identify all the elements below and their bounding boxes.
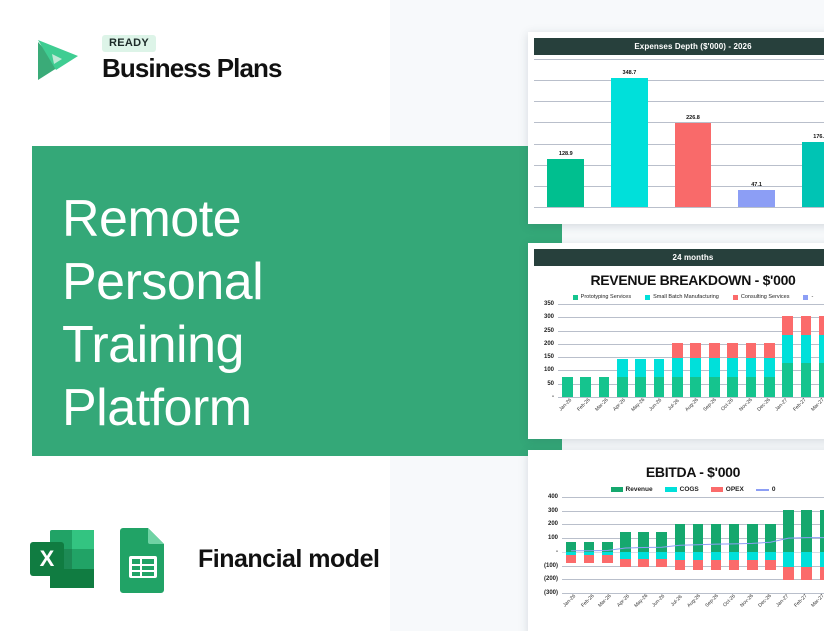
bar-slot[interactable] <box>779 304 797 397</box>
bar-slot[interactable]: 226.8 <box>661 59 725 207</box>
stacked-bar[interactable] <box>764 343 775 397</box>
legend-swatch-icon <box>573 295 578 300</box>
stack-segment[interactable] <box>690 377 701 397</box>
bar-slot[interactable] <box>613 304 631 397</box>
legend-item: OPEX <box>711 486 744 493</box>
stack-segment[interactable] <box>819 335 824 363</box>
stack-segment[interactable] <box>672 377 683 397</box>
y-axis-tick: 350 <box>544 301 558 307</box>
ebitda-chart-legend: RevenueCOGSOPEX0 <box>528 486 824 493</box>
x-axis-tick-slot: Jun-26 <box>657 595 675 621</box>
stack-segment[interactable] <box>617 377 628 397</box>
stacked-bar[interactable] <box>709 343 720 397</box>
legend-label: Small Batch Manufacturing <box>653 294 719 300</box>
stacked-bar[interactable] <box>562 377 573 397</box>
bar-slot[interactable] <box>595 304 613 397</box>
svg-text:X: X <box>40 546 55 571</box>
stacked-bar[interactable] <box>654 358 665 397</box>
bar-slot[interactable] <box>760 304 778 397</box>
y-axis-tick: 400 <box>548 494 562 500</box>
legend-swatch-icon <box>803 295 808 300</box>
footer-label: Financial model <box>198 545 379 574</box>
stacked-bar[interactable] <box>580 377 591 397</box>
bar-slot[interactable]: 348.7 <box>598 59 662 207</box>
ebitda-plot-area: 400300200100-(100)(200)(300) <box>562 497 824 593</box>
legend-swatch-icon <box>756 489 769 491</box>
stack-segment[interactable] <box>635 377 646 397</box>
legend-item: Small Batch Manufacturing <box>645 294 719 300</box>
y-axis-tick: 100 <box>544 367 558 373</box>
y-axis-tick: 300 <box>548 508 562 514</box>
legend-swatch-icon <box>611 487 623 492</box>
ebitda-x-axis-labels: Jan-26Feb-26Mar-26Apr-26May-26Jun-26Jul-… <box>568 595 824 621</box>
ebitda-chart-title: EBITDA - $'000 <box>528 464 824 480</box>
bar-slot[interactable] <box>797 304 815 397</box>
bar-slot[interactable] <box>815 304 824 397</box>
hero-line-3: Training <box>62 314 502 377</box>
gridline <box>534 207 824 208</box>
legend-item: - <box>803 294 813 300</box>
stack-segment[interactable] <box>672 343 683 359</box>
legend-swatch-icon <box>733 295 738 300</box>
stack-segment[interactable] <box>727 343 738 359</box>
bar-slot[interactable] <box>576 304 594 397</box>
brand-name: Business Plans <box>102 55 282 82</box>
legend-label: COGS <box>680 486 699 493</box>
legend-swatch-icon <box>645 295 650 300</box>
stack-segment[interactable] <box>709 377 720 397</box>
legend-swatch-icon <box>665 487 677 492</box>
footer-row: X Financial model <box>28 524 379 594</box>
revenue-x-axis-labels: Jan-26Feb-26Mar-26Apr-26May-26Jun-26Jul-… <box>564 399 824 425</box>
stack-segment[interactable] <box>672 358 683 377</box>
y-axis-tick: (200) <box>544 576 562 582</box>
y-axis-tick: 50 <box>547 381 558 387</box>
bar[interactable]: 47.1 <box>738 190 775 207</box>
x-axis-tick-slot: Mar-26 <box>604 595 622 621</box>
bar-slot[interactable] <box>632 304 650 397</box>
bar-value-label: 176.5 <box>813 134 824 140</box>
legend-label: Consulting Services <box>741 294 790 300</box>
brand-lockup: READY Business Plans <box>26 28 282 90</box>
y-axis-tick: 100 <box>548 535 562 541</box>
bar-slot[interactable] <box>558 304 576 397</box>
stacked-bar[interactable] <box>599 377 610 397</box>
bar-slot[interactable] <box>687 304 705 397</box>
revenue-chart-header: 24 months <box>534 249 824 266</box>
legend-label: Revenue <box>626 486 653 493</box>
stack-segment[interactable] <box>764 377 775 397</box>
bar-slot[interactable] <box>723 304 741 397</box>
stack-segment[interactable] <box>819 363 824 397</box>
legend-item: Prototyping Services <box>573 294 631 300</box>
expenses-chart-header: Expenses Depth ($'000) - 2026 <box>534 38 824 55</box>
bar[interactable]: 226.8 <box>675 123 712 207</box>
bar-value-label: 348.7 <box>623 70 637 76</box>
hero-line-4: Platform <box>62 377 502 440</box>
stack-segment[interactable] <box>709 343 720 359</box>
legend-item: 0 <box>756 486 776 493</box>
revenue-chart-legend: Prototyping ServicesSmall Batch Manufact… <box>528 294 824 300</box>
stack-segment[interactable] <box>635 359 646 378</box>
stacked-bar[interactable] <box>746 343 757 397</box>
stack-segment[interactable] <box>764 343 775 359</box>
stack-segment[interactable] <box>617 359 628 378</box>
play-triangle-logo-icon <box>26 28 88 90</box>
stacked-bar[interactable] <box>727 343 738 397</box>
stacked-bar[interactable] <box>801 316 812 397</box>
expenses-bars: 128.9348.7226.847.1176.5 <box>534 59 824 207</box>
chart-card-revenue-breakdown[interactable]: 24 months REVENUE BREAKDOWN - $'000 Prot… <box>528 243 824 439</box>
slide-canvas: READY Business Plans Remote Personal Tra… <box>0 0 824 631</box>
y-axis-tick: 300 <box>544 314 558 320</box>
stack-segment[interactable] <box>562 377 573 397</box>
microsoft-excel-icon: X <box>28 524 96 594</box>
hero-line-1: Remote <box>62 188 502 251</box>
stacked-bar[interactable] <box>617 358 628 397</box>
bar[interactable]: 176.5 <box>802 142 824 207</box>
bar-value-label: 226.8 <box>686 115 700 121</box>
x-axis-tick-slot: Mar-27 <box>817 595 824 621</box>
stack-segment[interactable] <box>654 359 665 378</box>
stacked-bar[interactable] <box>819 316 824 397</box>
stack-segment[interactable] <box>782 363 793 397</box>
legend-label: Prototyping Services <box>581 294 631 300</box>
bar[interactable]: 348.7 <box>611 78 648 207</box>
bar-slot[interactable] <box>668 304 686 397</box>
x-axis-tick-slot: Jun-26 <box>654 399 672 425</box>
bar-slot[interactable]: 47.1 <box>725 59 789 207</box>
stack-segment[interactable] <box>727 358 738 377</box>
stack-segment[interactable] <box>801 316 812 335</box>
legend-item: Consulting Services <box>733 294 790 300</box>
stacked-bar[interactable] <box>782 316 793 397</box>
y-axis-tick: 150 <box>544 354 558 360</box>
stack-segment[interactable] <box>580 377 591 397</box>
hero-line-2: Personal <box>62 251 502 314</box>
stack-segment[interactable] <box>709 358 720 377</box>
y-axis-tick: (300) <box>544 590 562 596</box>
revenue-bars <box>558 304 824 397</box>
bar[interactable]: 128.9 <box>547 159 584 207</box>
bar-slot[interactable] <box>705 304 723 397</box>
page-title: Remote Personal Training Platform <box>62 188 502 440</box>
stack-segment[interactable] <box>599 377 610 397</box>
chart-card-ebitda[interactable]: EBITDA - $'000 RevenueCOGSOPEX0 40030020… <box>528 450 824 631</box>
stack-segment[interactable] <box>746 358 757 377</box>
stack-segment[interactable] <box>782 335 793 363</box>
stack-segment[interactable] <box>801 363 812 397</box>
legend-label: OPEX <box>726 486 744 493</box>
y-axis-tick: (100) <box>544 563 562 569</box>
expenses-plot-area: 128.9348.7226.847.1176.5 <box>534 59 824 207</box>
ready-badge: READY <box>102 35 156 52</box>
revenue-chart-title: REVENUE BREAKDOWN - $'000 <box>528 272 824 288</box>
ebitda-trend-line <box>562 497 824 593</box>
stack-segment[interactable] <box>782 316 793 335</box>
bar-slot[interactable]: 128.9 <box>534 59 598 207</box>
revenue-plot-area: 35030025020015010050- <box>558 304 824 397</box>
bar-value-label: 128.9 <box>559 151 573 157</box>
bar-slot[interactable] <box>650 304 668 397</box>
stack-segment[interactable] <box>690 358 701 377</box>
stack-segment[interactable] <box>746 343 757 359</box>
bar-slot[interactable] <box>742 304 760 397</box>
y-axis-tick: 200 <box>544 341 558 347</box>
x-axis-tick-slot: Mar-27 <box>816 399 824 425</box>
stacked-bar[interactable] <box>635 358 646 397</box>
stack-segment[interactable] <box>654 377 665 397</box>
stacked-bar[interactable] <box>672 343 683 397</box>
legend-item: COGS <box>665 486 699 493</box>
legend-item: Revenue <box>611 486 653 493</box>
stack-segment[interactable] <box>801 335 812 363</box>
stack-segment[interactable] <box>690 343 701 359</box>
stack-segment[interactable] <box>727 377 738 397</box>
stack-segment[interactable] <box>746 377 757 397</box>
stacked-bar[interactable] <box>690 343 701 397</box>
legend-label: - <box>811 294 813 300</box>
y-axis-tick: 200 <box>548 521 562 527</box>
stack-segment[interactable] <box>819 316 824 335</box>
legend-swatch-icon <box>711 487 723 492</box>
legend-label: 0 <box>772 486 776 493</box>
chart-card-expenses[interactable]: Expenses Depth ($'000) - 2026 128.9348.7… <box>528 32 824 224</box>
google-sheets-icon <box>112 524 174 594</box>
bar-value-label: 47.1 <box>751 182 762 188</box>
bar-slot[interactable]: 176.5 <box>788 59 824 207</box>
y-axis-tick: 250 <box>544 328 558 334</box>
stack-segment[interactable] <box>764 358 775 377</box>
